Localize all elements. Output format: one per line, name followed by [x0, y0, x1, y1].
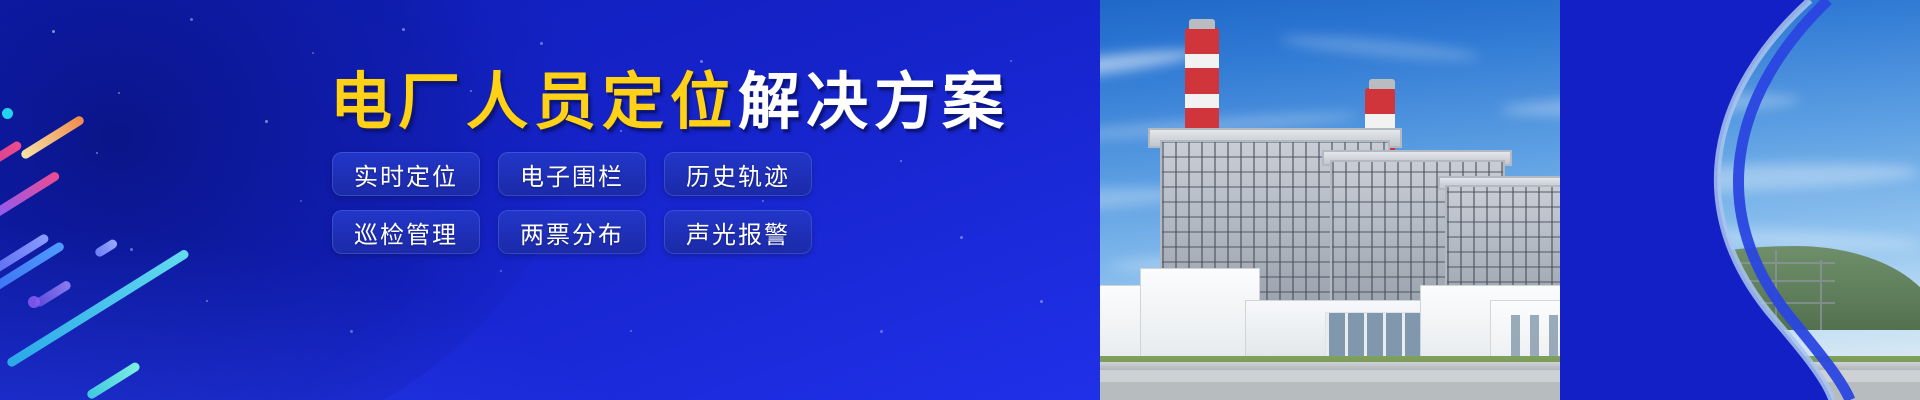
feature-tag-two-ticket-distribution[interactable]: 两票分布 — [498, 210, 646, 254]
feature-tag-geofence[interactable]: 电子围栏 — [498, 152, 646, 196]
title-highlight: 电厂人员定位 — [330, 68, 738, 137]
title-normal: 解决方案 — [738, 68, 1010, 137]
feature-tag-inspection-management[interactable]: 巡检管理 — [332, 210, 480, 254]
feature-tag-history-track[interactable]: 历史轨迹 — [664, 152, 812, 196]
feature-tag-audible-visual-alarm[interactable]: 声光报警 — [664, 210, 812, 254]
feature-tag-row: 巡检管理 两票分布 声光报警 — [332, 210, 852, 254]
feature-tag-realtime-locating[interactable]: 实时定位 — [332, 152, 480, 196]
page-title: 电厂人员定位解决方案 — [330, 72, 1010, 134]
solution-banner: 电厂人员定位解决方案 实时定位 电子围栏 历史轨迹 巡检管理 两票分布 声光报警 — [0, 0, 1920, 400]
feature-tag-row: 实时定位 电子围栏 历史轨迹 — [332, 152, 852, 196]
feature-tag-list: 实时定位 电子围栏 历史轨迹 巡检管理 两票分布 声光报警 — [332, 152, 852, 268]
curve-divider — [1560, 0, 1920, 400]
banner-content: 电厂人员定位解决方案 实时定位 电子围栏 历史轨迹 巡检管理 两票分布 声光报警 — [0, 0, 1100, 400]
